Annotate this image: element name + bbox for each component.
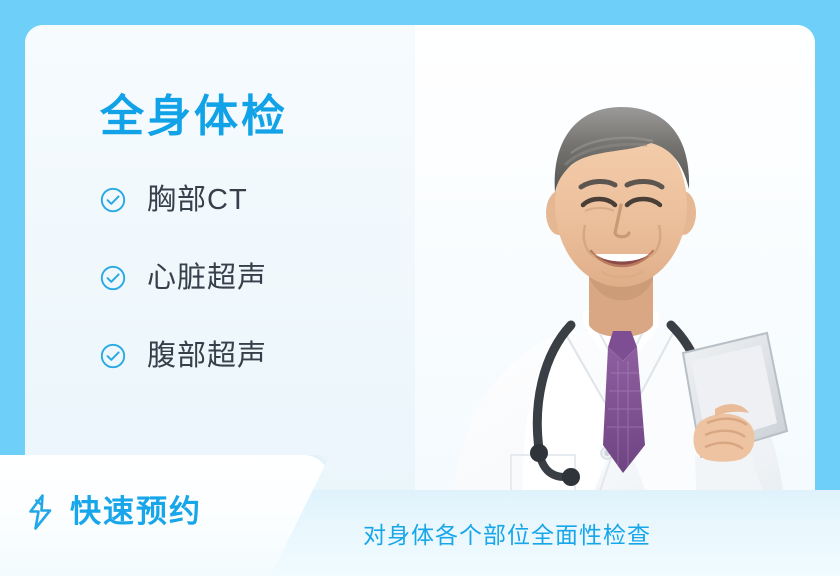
feature-label: 胸部CT bbox=[147, 183, 248, 217]
list-item: 心脏超声 bbox=[100, 252, 460, 304]
quick-booking-content: 快速预约 bbox=[24, 493, 202, 531]
list-item: 腹部超声 bbox=[100, 330, 460, 382]
doctor-portrait bbox=[415, 25, 815, 517]
health-checkup-promo-card: 全身体检 胸部CT bbox=[0, 0, 840, 576]
lightning-bolt-icon bbox=[24, 493, 56, 531]
page-title: 全身体检 bbox=[100, 90, 460, 144]
feature-label: 心脏超声 bbox=[147, 261, 267, 295]
quick-booking-label: 快速预约 bbox=[70, 493, 202, 531]
feature-label: 腹部超声 bbox=[147, 339, 267, 373]
list-item: 胸部CT bbox=[100, 174, 460, 226]
check-circle-icon bbox=[100, 265, 126, 291]
tagline-text: 对身体各个部位全面性检查 bbox=[363, 490, 651, 576]
check-circle-icon bbox=[100, 343, 126, 369]
check-circle-icon bbox=[100, 187, 126, 213]
feature-list: 胸部CT 心脏超声 bbox=[100, 174, 460, 382]
promo-content: 全身体检 胸部CT bbox=[100, 90, 460, 408]
